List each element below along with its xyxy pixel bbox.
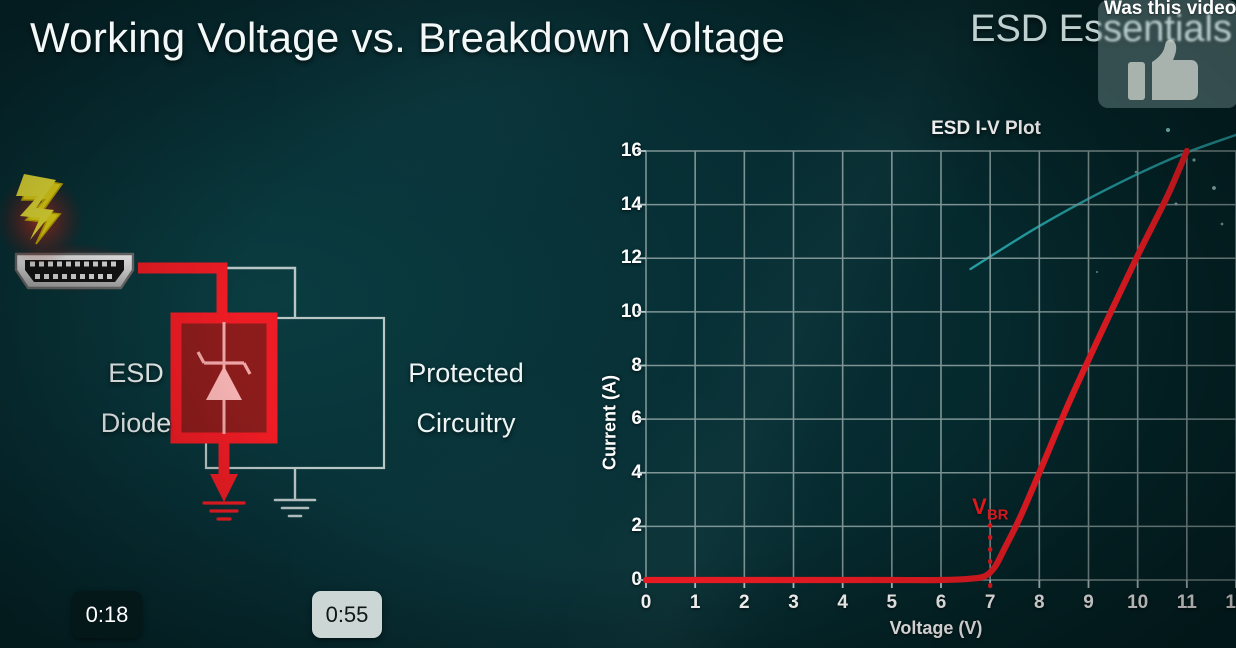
protected-circuitry-label: Protected Circuitry: [378, 348, 554, 448]
esd-diode-label-line1: ESD: [86, 348, 186, 398]
survey-question-text: Was this video: [1104, 0, 1236, 20]
ground-icon: [275, 500, 315, 516]
ground-icon: [204, 503, 244, 519]
esd-diode-label: ESD Diode: [86, 348, 186, 448]
circuit-diagram: ESD Diode Protected Circuitry: [0, 0, 1236, 648]
current-time-badge[interactable]: 0:18: [72, 591, 142, 638]
protected-circuitry-label-line2: Circuitry: [378, 398, 554, 448]
protected-circuitry-label-line1: Protected: [378, 348, 554, 398]
page-title: Working Voltage vs. Breakdown Voltage: [30, 14, 785, 62]
thumb-up-icon[interactable]: [1128, 40, 1198, 102]
total-time-badge[interactable]: 0:55: [312, 591, 382, 638]
current-arrow-icon: [210, 474, 238, 502]
lightning-bolt-icon: [0, 174, 84, 266]
video-frame: ESD I-V Plot Current (A) Voltage (V) 024…: [0, 0, 1236, 648]
esd-diode-label-line2: Diode: [86, 398, 186, 448]
surge-wire: [138, 268, 222, 318]
